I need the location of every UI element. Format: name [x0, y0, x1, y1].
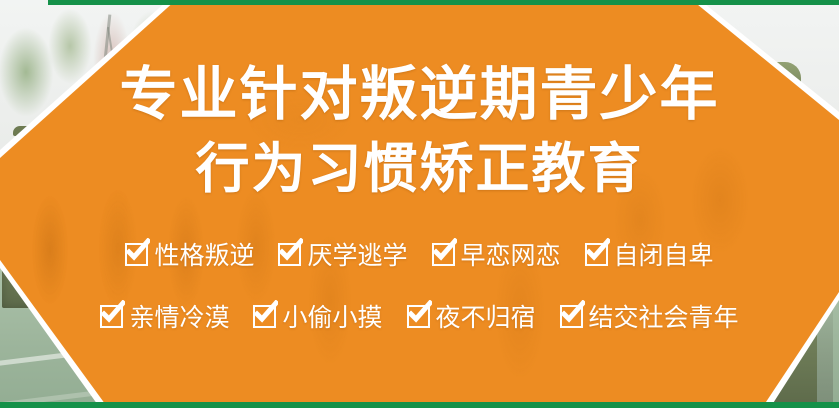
checkbox-checked-icon: [278, 243, 301, 266]
checkbox-checked-icon: [585, 243, 608, 266]
checklist-item[interactable]: 亲情冷漠: [100, 298, 229, 334]
checkbox-checked-icon: [432, 243, 455, 266]
checklist-row-1: 性格叛逆 厌学逃学 早恋网恋: [125, 236, 713, 272]
checklist-item[interactable]: 小偷小摸: [253, 298, 382, 334]
checklist-item[interactable]: 自闭自卑: [585, 236, 714, 272]
checklist: 性格叛逆 厌学逃学 早恋网恋: [0, 236, 839, 334]
banner-content: 专业针对叛逆期青少年 行为习惯矫正教育 性格叛逆 厌学逃学: [0, 0, 839, 408]
checklist-item-label: 小偷小摸: [282, 298, 382, 334]
checkbox-checked-icon: [100, 305, 123, 328]
checklist-item-label: 结交社会青年: [589, 298, 739, 334]
checkbox-checked-icon: [407, 305, 430, 328]
checkbox-checked-icon: [560, 305, 583, 328]
checklist-item[interactable]: 结交社会青年: [560, 298, 739, 334]
green-rule-bottom: [0, 402, 839, 408]
headline-line-2: 行为习惯矫正教育: [196, 142, 644, 196]
checklist-item[interactable]: 早恋网恋: [432, 236, 561, 272]
checklist-item-label: 亲情冷漠: [129, 298, 229, 334]
checklist-item-label: 厌学逃学: [307, 236, 407, 272]
checklist-item-label: 早恋网恋: [461, 236, 561, 272]
checklist-item[interactable]: 厌学逃学: [278, 236, 407, 272]
checklist-row-2: 亲情冷漠 小偷小摸 夜不归宿: [100, 298, 738, 334]
checklist-item-label: 性格叛逆: [154, 236, 254, 272]
checklist-item[interactable]: 夜不归宿: [407, 298, 536, 334]
checklist-item[interactable]: 性格叛逆: [125, 236, 254, 272]
headline-line-1: 专业针对叛逆期青少年: [119, 66, 719, 124]
promo-banner: 专业针对叛逆期青少年 行为习惯矫正教育 性格叛逆 厌学逃学: [0, 0, 839, 408]
checkbox-checked-icon: [253, 305, 276, 328]
checklist-item-label: 夜不归宿: [436, 298, 536, 334]
checkbox-checked-icon: [125, 243, 148, 266]
checklist-item-label: 自闭自卑: [614, 236, 714, 272]
green-rule-top: [48, 0, 839, 5]
